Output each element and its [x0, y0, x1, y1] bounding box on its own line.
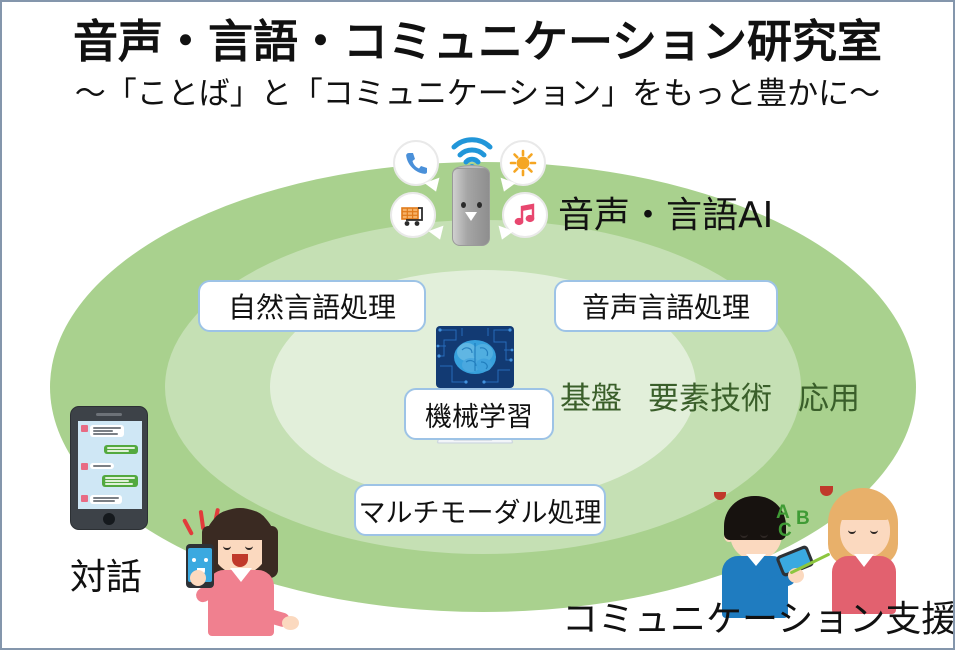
chat-screen	[78, 421, 142, 509]
hand	[282, 616, 299, 630]
poster-header: 音声・言語・コミュニケーション研究室 〜「ことば」と「コミュニケーション」をもっ…	[2, 2, 953, 120]
hair-bangs	[210, 510, 270, 540]
chip-natural-language-processing[interactable]: 自然言語処理	[198, 280, 426, 332]
chat-bubble	[104, 445, 138, 454]
chat-message-incoming	[81, 495, 122, 504]
eye	[760, 530, 768, 538]
poster-canvas: 音声・言語・コミュニケーション研究室 〜「ことば」と「コミュニケーション」をもっ…	[0, 0, 955, 650]
chat-bubble	[90, 425, 124, 437]
cart-icon	[399, 202, 427, 228]
sun-icon	[509, 149, 537, 177]
layer-label-application: 応用	[798, 373, 860, 418]
phone-face-eye	[192, 558, 196, 562]
hand	[190, 570, 206, 586]
person-girl-illustration	[190, 500, 300, 638]
chip-spoken-language-processing[interactable]: 音声言語処理	[554, 280, 778, 332]
chat-message-outgoing	[102, 475, 138, 487]
brain-shape	[454, 340, 496, 374]
phone-earpiece	[96, 413, 122, 416]
music-note-icon	[512, 202, 538, 228]
chat-smartphone-illustration	[70, 406, 148, 530]
speaker-eye	[477, 202, 482, 208]
caption-voice-language-ai: 音声・言語AI	[558, 186, 773, 238]
circuit-pattern-icon	[436, 326, 514, 388]
phone-face-eye	[204, 558, 208, 562]
voice-ai-illustration	[390, 136, 550, 248]
eye	[740, 530, 748, 538]
chat-message-incoming	[81, 463, 114, 470]
chat-bubble	[90, 463, 114, 469]
letter-b-icon: B	[796, 508, 810, 530]
mouth	[714, 492, 726, 500]
chat-message-outgoing	[104, 445, 138, 454]
eye	[848, 526, 856, 534]
avatar	[81, 495, 88, 502]
page-title: 音声・言語・コミュニケーション研究室	[2, 12, 953, 72]
avatar	[81, 425, 88, 432]
eye	[223, 542, 231, 550]
layer-label-foundation: 基盤	[560, 373, 622, 418]
hair-bangs	[834, 494, 892, 520]
eye	[870, 526, 878, 534]
phone-home-button	[103, 513, 115, 525]
speaker-eye	[461, 202, 466, 208]
caption-communication-support: コミュニケーション支援	[562, 590, 955, 642]
monitor-screen	[436, 326, 514, 388]
caption-dialogue: 対話	[70, 548, 142, 600]
eye	[245, 542, 253, 550]
layer-label-group: 基盤 要素技術 応用	[560, 372, 900, 418]
chat-message-incoming	[81, 425, 124, 437]
letter-c-icon: C	[778, 520, 792, 542]
phone-icon	[403, 150, 429, 176]
chat-bubble	[90, 495, 122, 504]
mouth	[820, 486, 833, 496]
layer-label-elemental-tech: 要素技術	[648, 373, 772, 418]
speaker-mouth	[465, 212, 477, 221]
chip-multimodal-processing[interactable]: マルチモーダル処理	[354, 484, 606, 536]
smart-speaker-icon	[452, 168, 490, 246]
chat-bubble	[102, 475, 138, 487]
avatar	[81, 463, 88, 470]
chip-machine-learning[interactable]: 機械学習	[404, 388, 554, 440]
page-subtitle: 〜「ことば」と「コミュニケーション」をもっと豊かに〜	[2, 74, 953, 114]
